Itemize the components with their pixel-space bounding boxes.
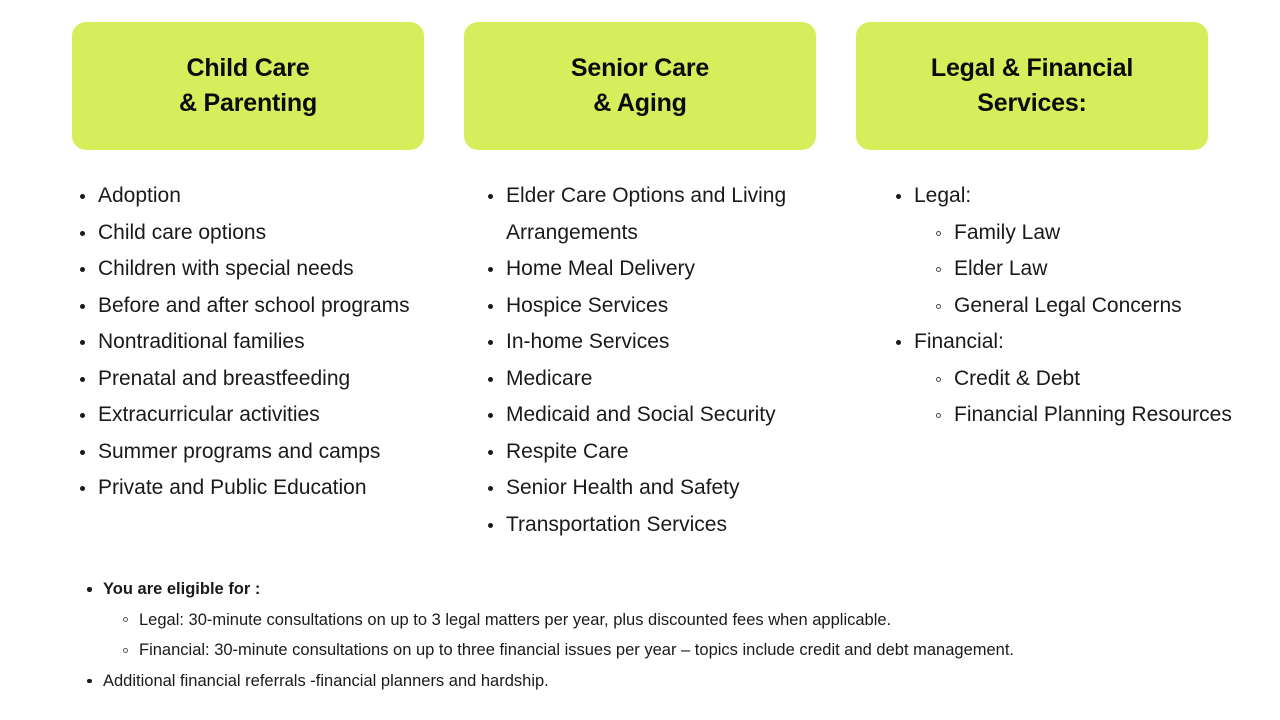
list-item-label: Prenatal and breastfeeding [98,361,424,398]
sub-list-item: General Legal Concerns [914,288,1240,325]
list-item-label: Transportation Services [506,507,832,544]
list-item-label: Hospice Services [506,288,832,325]
list-item-label: Home Meal Delivery [506,251,832,288]
list-item: Hospice Services [480,288,832,325]
list-item: Nontraditional families [72,324,424,361]
bullet-list: Elder Care Options and Living Arrangemen… [480,178,832,543]
list-item-label: Elder Care Options and Living Arrangemen… [506,178,832,251]
content-columns: Adoption Child care options Children wit… [72,178,1222,543]
list-item-label: Medicaid and Social Security [506,397,832,434]
eligibility-sub-item-label: Financial: 30-minute consultations on up… [139,641,1014,659]
list-item-label: Financial: [914,324,1240,361]
eligibility-sub-item: Legal: 30-minute consultations on up to … [103,605,1232,636]
eligibility-sub-item: Financial: 30-minute consultations on up… [103,635,1232,666]
list-item: Child care options [72,215,424,252]
list-item-label: Medicare [506,361,832,398]
sub-list-item-label: General Legal Concerns [954,294,1182,317]
eligibility-item-label: Additional financial referrals -financia… [103,672,549,690]
category-card-legal-financial: Legal & Financial Services: [856,22,1208,150]
list-item-label: Extracurricular activities [98,397,424,434]
sub-bullet-list: Family Law Elder Law General Legal Conce… [914,215,1240,325]
category-card-title: Child Care & Parenting [179,51,317,122]
list-item: Senior Health and Safety [480,470,832,507]
list-item: Medicaid and Social Security [480,397,832,434]
eligibility-sub-item-label: Legal: 30-minute consultations on up to … [139,611,891,629]
list-item: Elder Care Options and Living Arrangemen… [480,178,832,251]
list-item-label: Senior Health and Safety [506,470,832,507]
list-item-label: In-home Services [506,324,832,361]
list-item: Transportation Services [480,507,832,544]
sub-list-item-label: Credit & Debt [954,367,1080,390]
category-card-title: Senior Care & Aging [571,51,709,122]
list-item: Summer programs and camps [72,434,424,471]
category-cards-row: Child Care & Parenting Senior Care & Agi… [72,22,1208,150]
list-item: Adoption [72,178,424,215]
list-item: Respite Care [480,434,832,471]
list-item-label: Nontraditional families [98,324,424,361]
eligibility-sub-list: Legal: 30-minute consultations on up to … [103,605,1232,666]
eligibility-list: You are eligible for : Legal: 30-minute … [82,574,1232,696]
sub-list-item: Family Law [914,215,1240,252]
sub-list-item: Financial Planning Resources [914,397,1240,434]
sub-list-item: Elder Law [914,251,1240,288]
eligibility-item: You are eligible for : Legal: 30-minute … [82,574,1232,666]
category-card-title: Legal & Financial Services: [931,51,1133,122]
category-card-child-care: Child Care & Parenting [72,22,424,150]
column-legal-and-financial-services: Legal: Family Law Elder Law General Lega… [888,178,1240,543]
sub-list-item: Credit & Debt [914,361,1240,398]
list-item-label: Adoption [98,178,424,215]
list-item: Children with special needs [72,251,424,288]
bullet-list: Adoption Child care options Children wit… [72,178,424,507]
column-senior-care-and-aging: Elder Care Options and Living Arrangemen… [480,178,832,543]
column-child-care-and-parenting: Adoption Child care options Children wit… [72,178,424,543]
list-item: Legal: Family Law Elder Law General Lega… [888,178,1240,324]
sub-bullet-list: Credit & Debt Financial Planning Resourc… [914,361,1240,434]
eligibility-item: Additional financial referrals -financia… [82,666,1232,697]
eligibility-item-label: You are eligible for : [103,580,260,598]
list-item: Extracurricular activities [72,397,424,434]
list-item: Prenatal and breastfeeding [72,361,424,398]
list-item-label: Children with special needs [98,251,424,288]
bullet-list: Legal: Family Law Elder Law General Lega… [888,178,1240,434]
list-item: Private and Public Education [72,470,424,507]
list-item-label: Respite Care [506,434,832,471]
sub-list-item-label: Elder Law [954,257,1047,280]
list-item-label: Child care options [98,215,424,252]
list-item: Medicare [480,361,832,398]
sub-list-item-label: Financial Planning Resources [954,403,1232,426]
list-item: Financial: Credit & Debt Financial Plann… [888,324,1240,434]
slide-canvas: Child Care & Parenting Senior Care & Agi… [0,0,1280,720]
eligibility-section: You are eligible for : Legal: 30-minute … [82,574,1232,696]
category-card-senior-care: Senior Care & Aging [464,22,816,150]
list-item: Home Meal Delivery [480,251,832,288]
sub-list-item-label: Family Law [954,221,1060,244]
list-item: In-home Services [480,324,832,361]
list-item: Before and after school programs [72,288,424,325]
list-item-label: Before and after school programs [98,288,424,325]
list-item-label: Private and Public Education [98,470,424,507]
list-item-label: Summer programs and camps [98,434,424,471]
list-item-label: Legal: [914,178,1240,215]
